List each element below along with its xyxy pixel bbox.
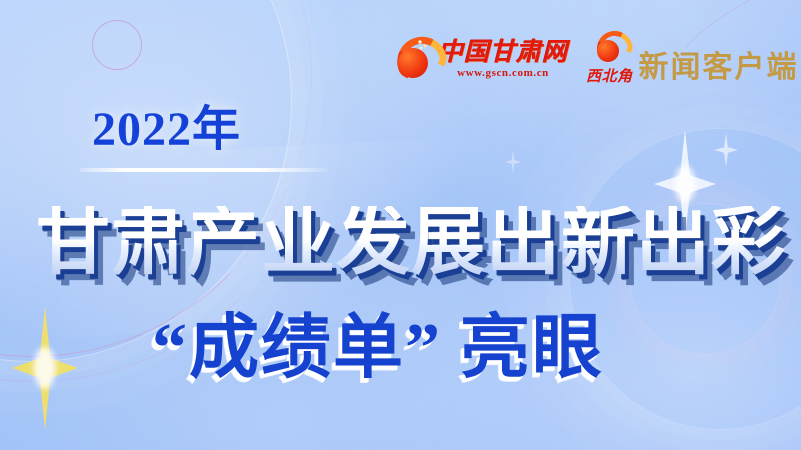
subtitle: “成绩单”亮眼 [152,314,604,384]
primary-logo-name: 中国甘肃网 [438,40,568,65]
primary-logo[interactable]: 中国甘肃网 www.gscn.com.cn [396,35,568,79]
subtitle-quoted: “成绩单” [152,310,442,387]
app-name-label: 新闻客户端 [639,53,799,83]
yellow-star-icon [12,306,78,430]
secondary-logo[interactable]: 西北角 新闻客户端 [586,30,799,85]
pink-arc [0,0,312,357]
white-star-tiny-icon [505,150,521,174]
secondary-logo-name: 西北角 [586,70,633,85]
pink-circle-outline [92,20,142,70]
year-divider [80,168,328,172]
banner-canvas: 中国甘肃网 www.gscn.com.cn 西北角 新闻客户端 2022年 甘肃… [0,0,801,450]
white-star-small-icon [714,133,738,167]
subtitle-tail: 亮眼 [460,310,604,387]
year-label: 2022年 [92,106,241,154]
gansu-net-emblem-icon [396,35,432,79]
xibeijiao-emblem-icon [596,30,622,68]
headline: 甘肃产业发展出新出彩 [36,206,786,280]
logo-bar: 中国甘肃网 www.gscn.com.cn 西北角 新闻客户端 [396,27,799,87]
primary-logo-url: www.gscn.com.cn [457,68,549,79]
